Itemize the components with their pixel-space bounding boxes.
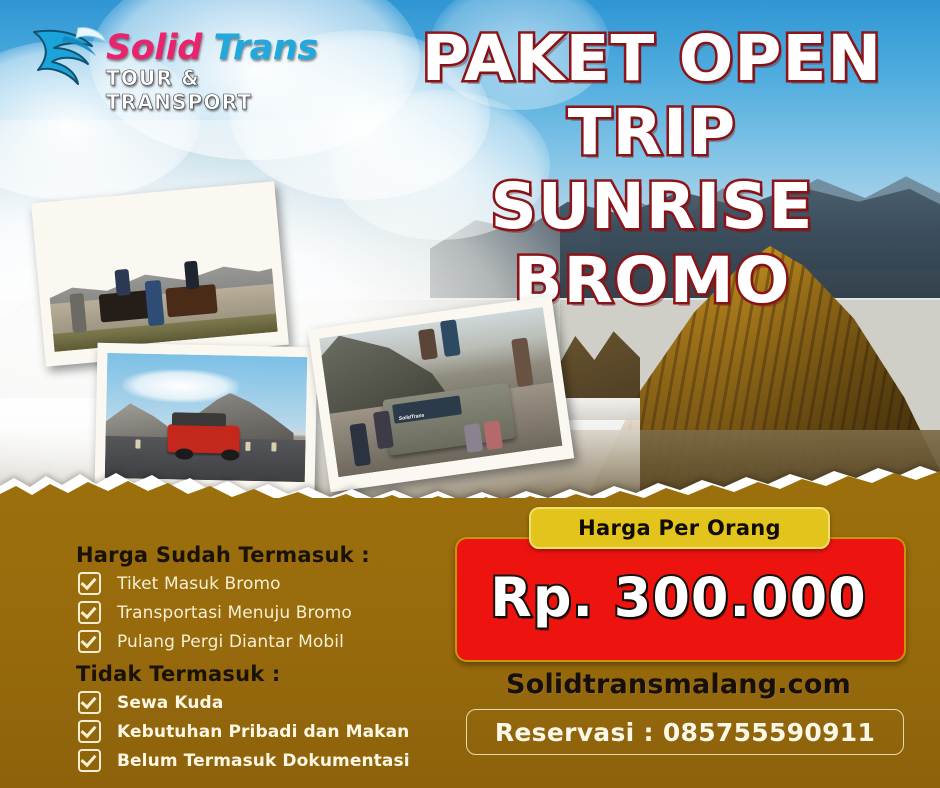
list-item: Transportasi Menuju Bromo <box>78 601 466 624</box>
reservation-text: Reservasi : 085755590911 <box>495 718 875 747</box>
inclusions-block: Harga Sudah Termasuk : Tiket Masuk Bromo… <box>76 543 466 778</box>
checkbox-check-icon <box>78 630 101 653</box>
brand-logo: Solid Trans TOUR & TRANSPORT <box>28 18 348 108</box>
included-heading: Harga Sudah Termasuk : <box>76 543 466 567</box>
excluded-heading: Tidak Termasuk : <box>76 662 466 686</box>
included-item-label: Transportasi Menuju Bromo <box>117 603 352 623</box>
brand-name-part1: Solid <box>106 28 202 68</box>
headline-line-1: PAKET OPEN TRIP <box>373 22 932 170</box>
bird-swoosh-icon <box>28 22 110 98</box>
list-item: Kebutuhan Pribadi dan Makan <box>78 720 466 743</box>
brand-wordmark: Solid Trans TOUR & TRANSPORT <box>106 28 346 114</box>
checkbox-check-icon <box>78 720 101 743</box>
photo-card-horse-riding <box>31 181 289 366</box>
checkbox-check-icon <box>78 691 101 714</box>
checkbox-check-icon <box>78 601 101 624</box>
included-item-label: Tiket Masuk Bromo <box>117 574 281 594</box>
checkbox-check-icon <box>78 572 101 595</box>
promo-flyer: Solid Trans TOUR & TRANSPORT PAKET OPEN … <box>0 0 940 788</box>
website-text[interactable]: Solidtransmalang.com <box>455 669 902 700</box>
list-item: Belum Termasuk Dokumentasi <box>78 749 466 772</box>
excluded-item-label: Sewa Kuda <box>117 693 223 713</box>
rider-shape <box>184 260 200 289</box>
price-label-text: Harga Per Orang <box>578 516 781 540</box>
list-item: Tiket Masuk Bromo <box>78 572 466 595</box>
horse-shape <box>166 284 218 318</box>
included-item-label: Pulang Pergi Diantar Mobil <box>117 632 344 652</box>
list-item: Pulang Pergi Diantar Mobil <box>78 630 466 653</box>
price-label-badge: Harga Per Orang <box>529 507 830 549</box>
excluded-item-label: Belum Termasuk Dokumentasi <box>117 751 410 771</box>
checkbox-check-icon <box>78 749 101 772</box>
rider-shape <box>115 269 131 295</box>
price-amount: Rp. 300.000 <box>455 566 902 629</box>
reservation-box[interactable]: Reservasi : 085755590911 <box>466 709 904 755</box>
headline-line-2: SUNRISE BROMO <box>373 170 932 318</box>
list-item: Sewa Kuda <box>78 691 466 714</box>
headline: PAKET OPEN TRIP SUNRISE BROMO <box>378 22 926 318</box>
brand-tagline: TOUR & TRANSPORT <box>106 66 346 114</box>
brand-name-part2: Trans <box>214 28 318 68</box>
excluded-item-label: Kebutuhan Pribadi dan Makan <box>117 722 409 742</box>
